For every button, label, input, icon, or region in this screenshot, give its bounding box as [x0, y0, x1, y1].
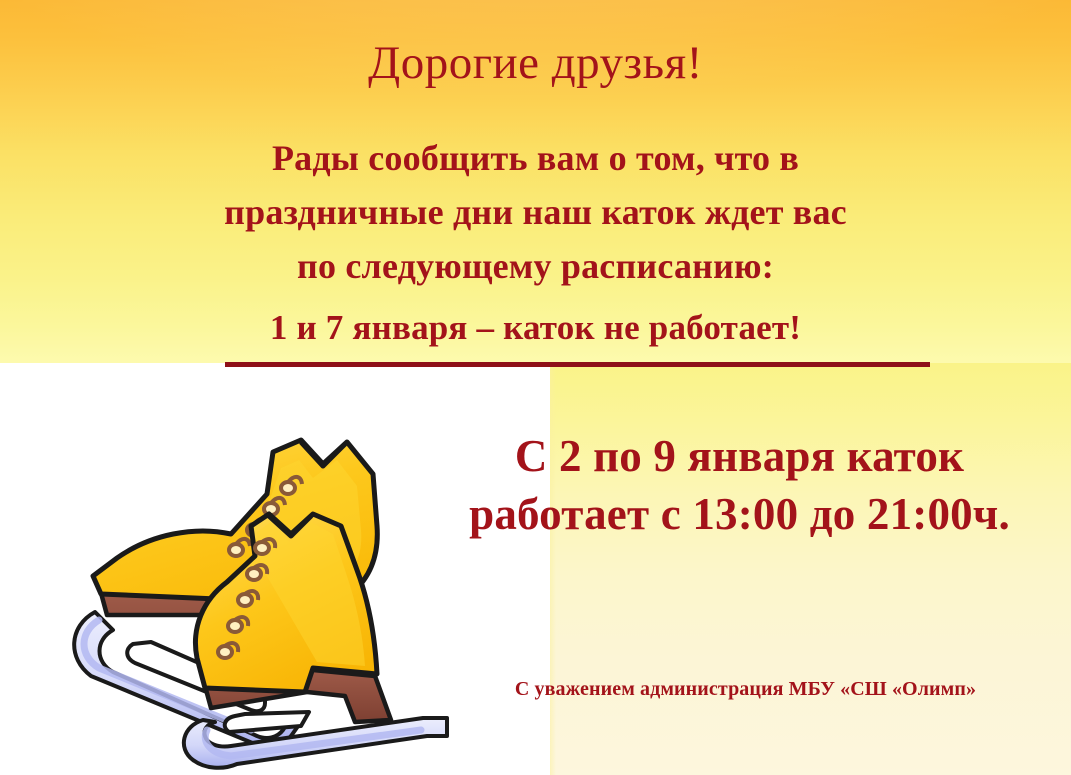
signature-line: С уважением администрация МБУ «СШ «Олимп…: [420, 678, 1071, 702]
background-panel-cream: [550, 363, 1071, 775]
opening-hours-line-2: работает с 13:00 до 21:00ч.: [408, 486, 1071, 544]
intro-line-2: праздничные дни наш каток ждет вас: [0, 185, 1071, 239]
intro-line-3: по следующему расписанию:: [0, 239, 1071, 293]
page-title: Дорогие друзья!: [0, 36, 1071, 91]
intro-line-1: Рады сообщить вам о том, что в: [0, 131, 1071, 185]
intro-paragraph: Рады сообщить вам о том, что в праздничн…: [0, 131, 1071, 293]
opening-hours-block: С 2 по 9 января каток работает с 13:00 д…: [408, 428, 1071, 543]
closed-days-notice: 1 и 7 января – каток не работает!: [0, 307, 1071, 348]
opening-hours-line-1: С 2 по 9 января каток: [408, 428, 1071, 486]
closed-days-underline: [225, 362, 930, 367]
ice-skates-illustration: [55, 430, 495, 775]
poster-canvas: Дорогие друзья! Рады сообщить вам о том,…: [0, 0, 1071, 775]
